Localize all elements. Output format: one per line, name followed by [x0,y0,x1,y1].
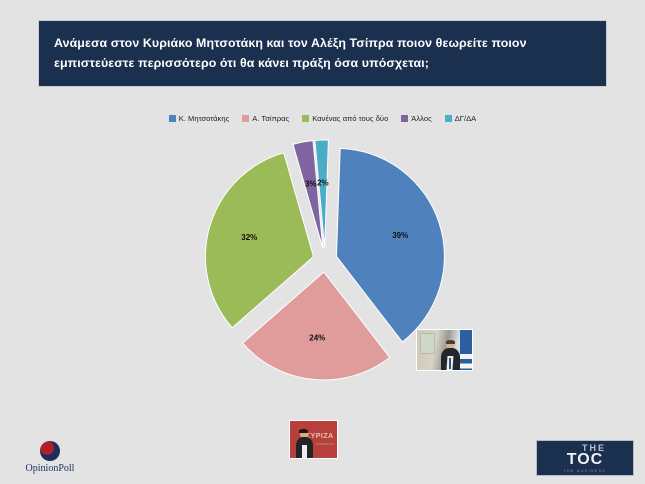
question-banner: Ανάμεσα στον Κυριάκο Μητσοτάκη και τον Α… [38,20,607,87]
legend-label-dk-na: ΔΓ/ΔΑ [455,114,477,123]
tsipras-hair [299,429,308,433]
page-title: Ανάμεσα στον Κυριάκο Μητσοτάκη και τον Α… [39,34,606,72]
legend-label-mitsotakis: Κ. Μητσοτάκης [179,114,230,123]
legend-swatch-other [401,115,408,122]
syriza-logo-subtext: ΣΥΜΜΑΧΙΑ [316,442,334,446]
thetoc-toc-text: TOC [567,452,603,468]
legend-item-other[interactable]: Άλλος [401,114,431,123]
legend-swatch-tsipras [242,115,249,122]
legend-swatch-dk-na [445,115,452,122]
legend-item-mitsotakis[interactable]: Κ. Μητσοτάκης [169,114,230,123]
chart-area: 39%24%32%3%2% ΣΥΡΙΖΑ ΣΥΜΜΑΧΙΑ [0,132,645,422]
chart-legend: Κ. Μητσοτάκης Α. Τσίπρας Κανένας από του… [0,114,645,123]
window-decor [420,333,434,354]
legend-swatch-mitsotakis [169,115,176,122]
legend-label-neither: Κανένας από τους δύο [312,114,388,123]
pie-chart[interactable]: 39%24%32%3%2% [150,132,500,417]
legend-item-neither[interactable]: Κανένας από τους δύο [302,114,388,123]
thetoc-logo: THE TOC THE BUSINESS [536,440,634,476]
pie-slices [205,140,444,380]
opinionpoll-name: OpinionPoll [26,463,75,474]
tsipras-shirt [302,445,307,458]
legend-label-tsipras: Α. Τσίπρας [252,114,289,123]
greek-flag-canton [460,330,472,349]
pie-slice-label: 3% [305,180,317,189]
photo-tsipras: ΣΥΡΙΖΑ ΣΥΜΜΑΧΙΑ [289,420,338,459]
legend-item-tsipras[interactable]: Α. Τσίπρας [242,114,289,123]
pie-slice-label: 39% [392,231,408,240]
photo-mitsotakis [416,329,473,371]
mitsotakis-tie [449,358,451,369]
pie-slice-label: 32% [241,233,257,242]
opinionpoll-logo: OpinionPoll [14,437,86,477]
thetoc-subtitle: THE BUSINESS [564,469,607,473]
legend-swatch-neither [302,115,309,122]
mitsotakis-hair [446,340,455,344]
pie-slice-label: 2% [317,178,329,187]
legend-item-dk-na[interactable]: ΔΓ/ΔΑ [445,114,477,123]
opinionpoll-mark-icon [40,441,60,461]
pie-slice-label: 24% [309,334,325,343]
legend-label-other: Άλλος [411,114,431,123]
